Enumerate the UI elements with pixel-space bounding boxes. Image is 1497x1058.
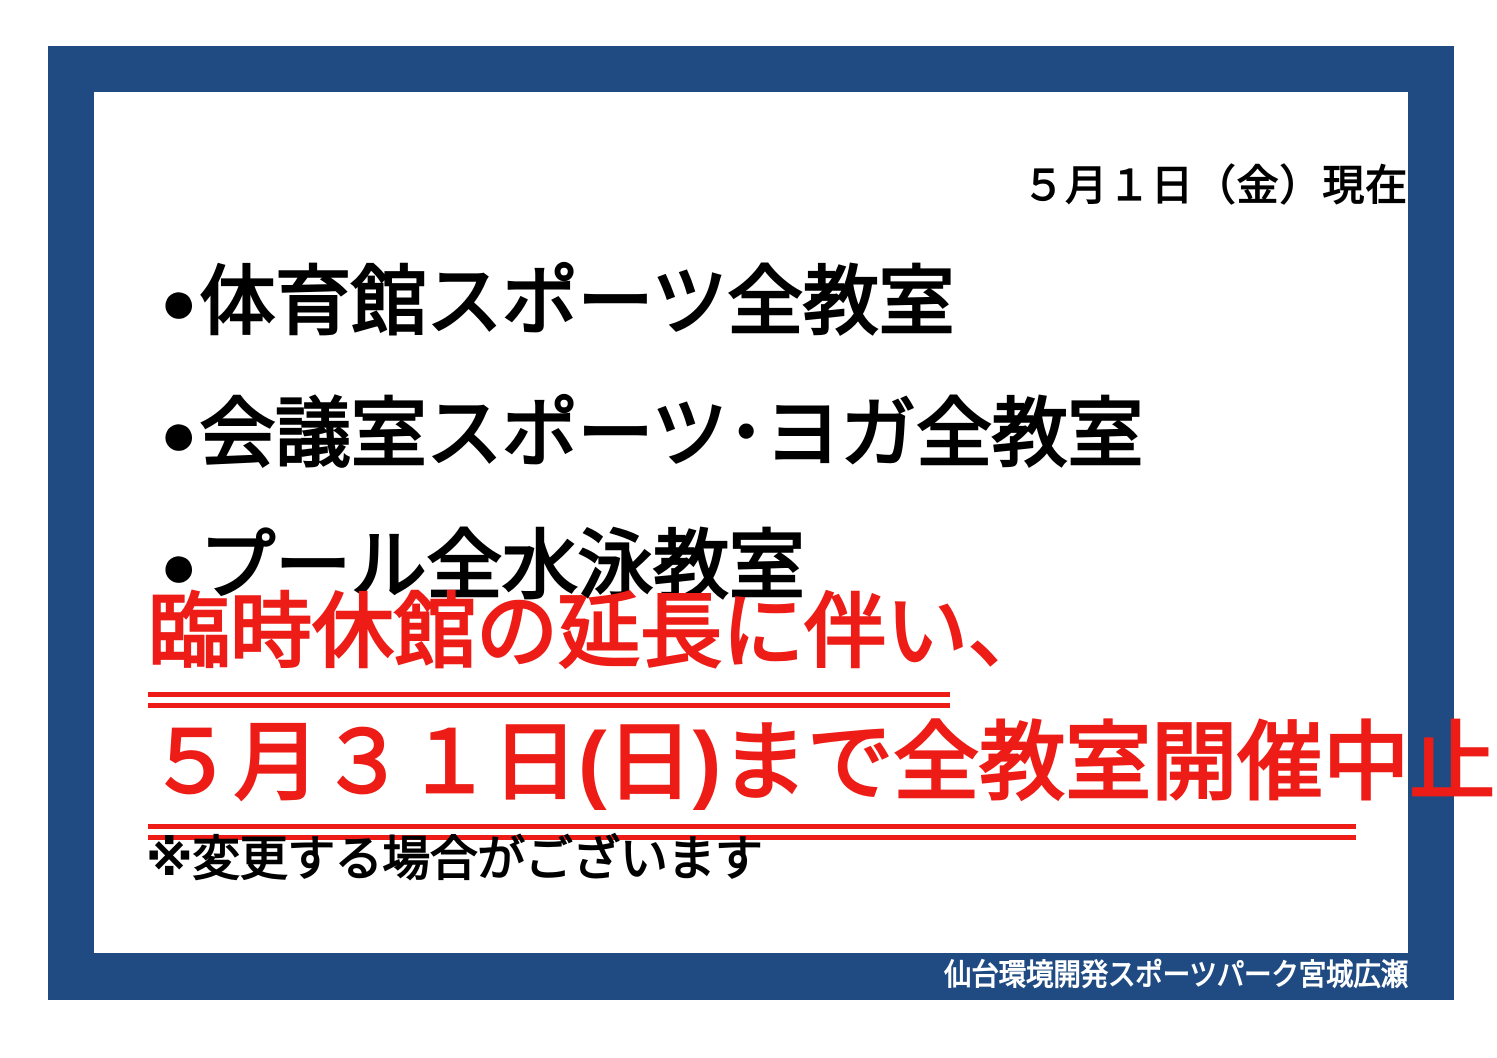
double-underline-top <box>148 692 950 697</box>
double-underline-bottom <box>148 703 950 708</box>
footnote-text: ※変更する場合がございます <box>146 836 762 884</box>
list-item: ● 会議室スポーツ･ヨガ全教室 <box>160 369 1408 501</box>
cancellation-notice: 臨時休館の延長に伴い、 ５月３１日(日)まで全教室開催中止 <box>148 592 1408 838</box>
list-item: ● 体育館スポーツ全教室 <box>160 237 1408 369</box>
cancellation-period-line: ５月３１日(日)まで全教室開催中止 <box>148 720 1408 838</box>
filled-circle-icon: ● <box>160 272 197 334</box>
cancellation-reason-line: 臨時休館の延長に伴い、 <box>148 592 1408 704</box>
header-date-notice: ５月１日（金）現在 <box>1022 165 1408 207</box>
double-underline-top <box>148 824 1356 829</box>
poster-frame: ５月１日（金）現在 ● 体育館スポーツ全教室 ● 会議室スポーツ･ヨガ全教室 ●… <box>48 46 1454 1000</box>
list-item-label: 体育館スポーツ全教室 <box>199 265 954 341</box>
organization-name: 仙台環境開発スポーツパーク宮城広瀬 <box>157 961 1408 991</box>
list-item-label: 会議室スポーツ･ヨガ全教室 <box>199 397 1143 473</box>
closure-bullet-list: ● 体育館スポーツ全教室 ● 会議室スポーツ･ヨガ全教室 ● プール全水泳教室 <box>160 237 1408 633</box>
cancellation-period-text: ５月３１日(日)まで全教室開催中止 <box>148 720 1495 806</box>
cancellation-reason-text: 臨時休館の延長に伴い、 <box>148 592 1054 674</box>
filled-circle-icon: ● <box>160 404 197 466</box>
poster-sheet: ５月１日（金）現在 ● 体育館スポーツ全教室 ● 会議室スポーツ･ヨガ全教室 ●… <box>94 92 1408 953</box>
